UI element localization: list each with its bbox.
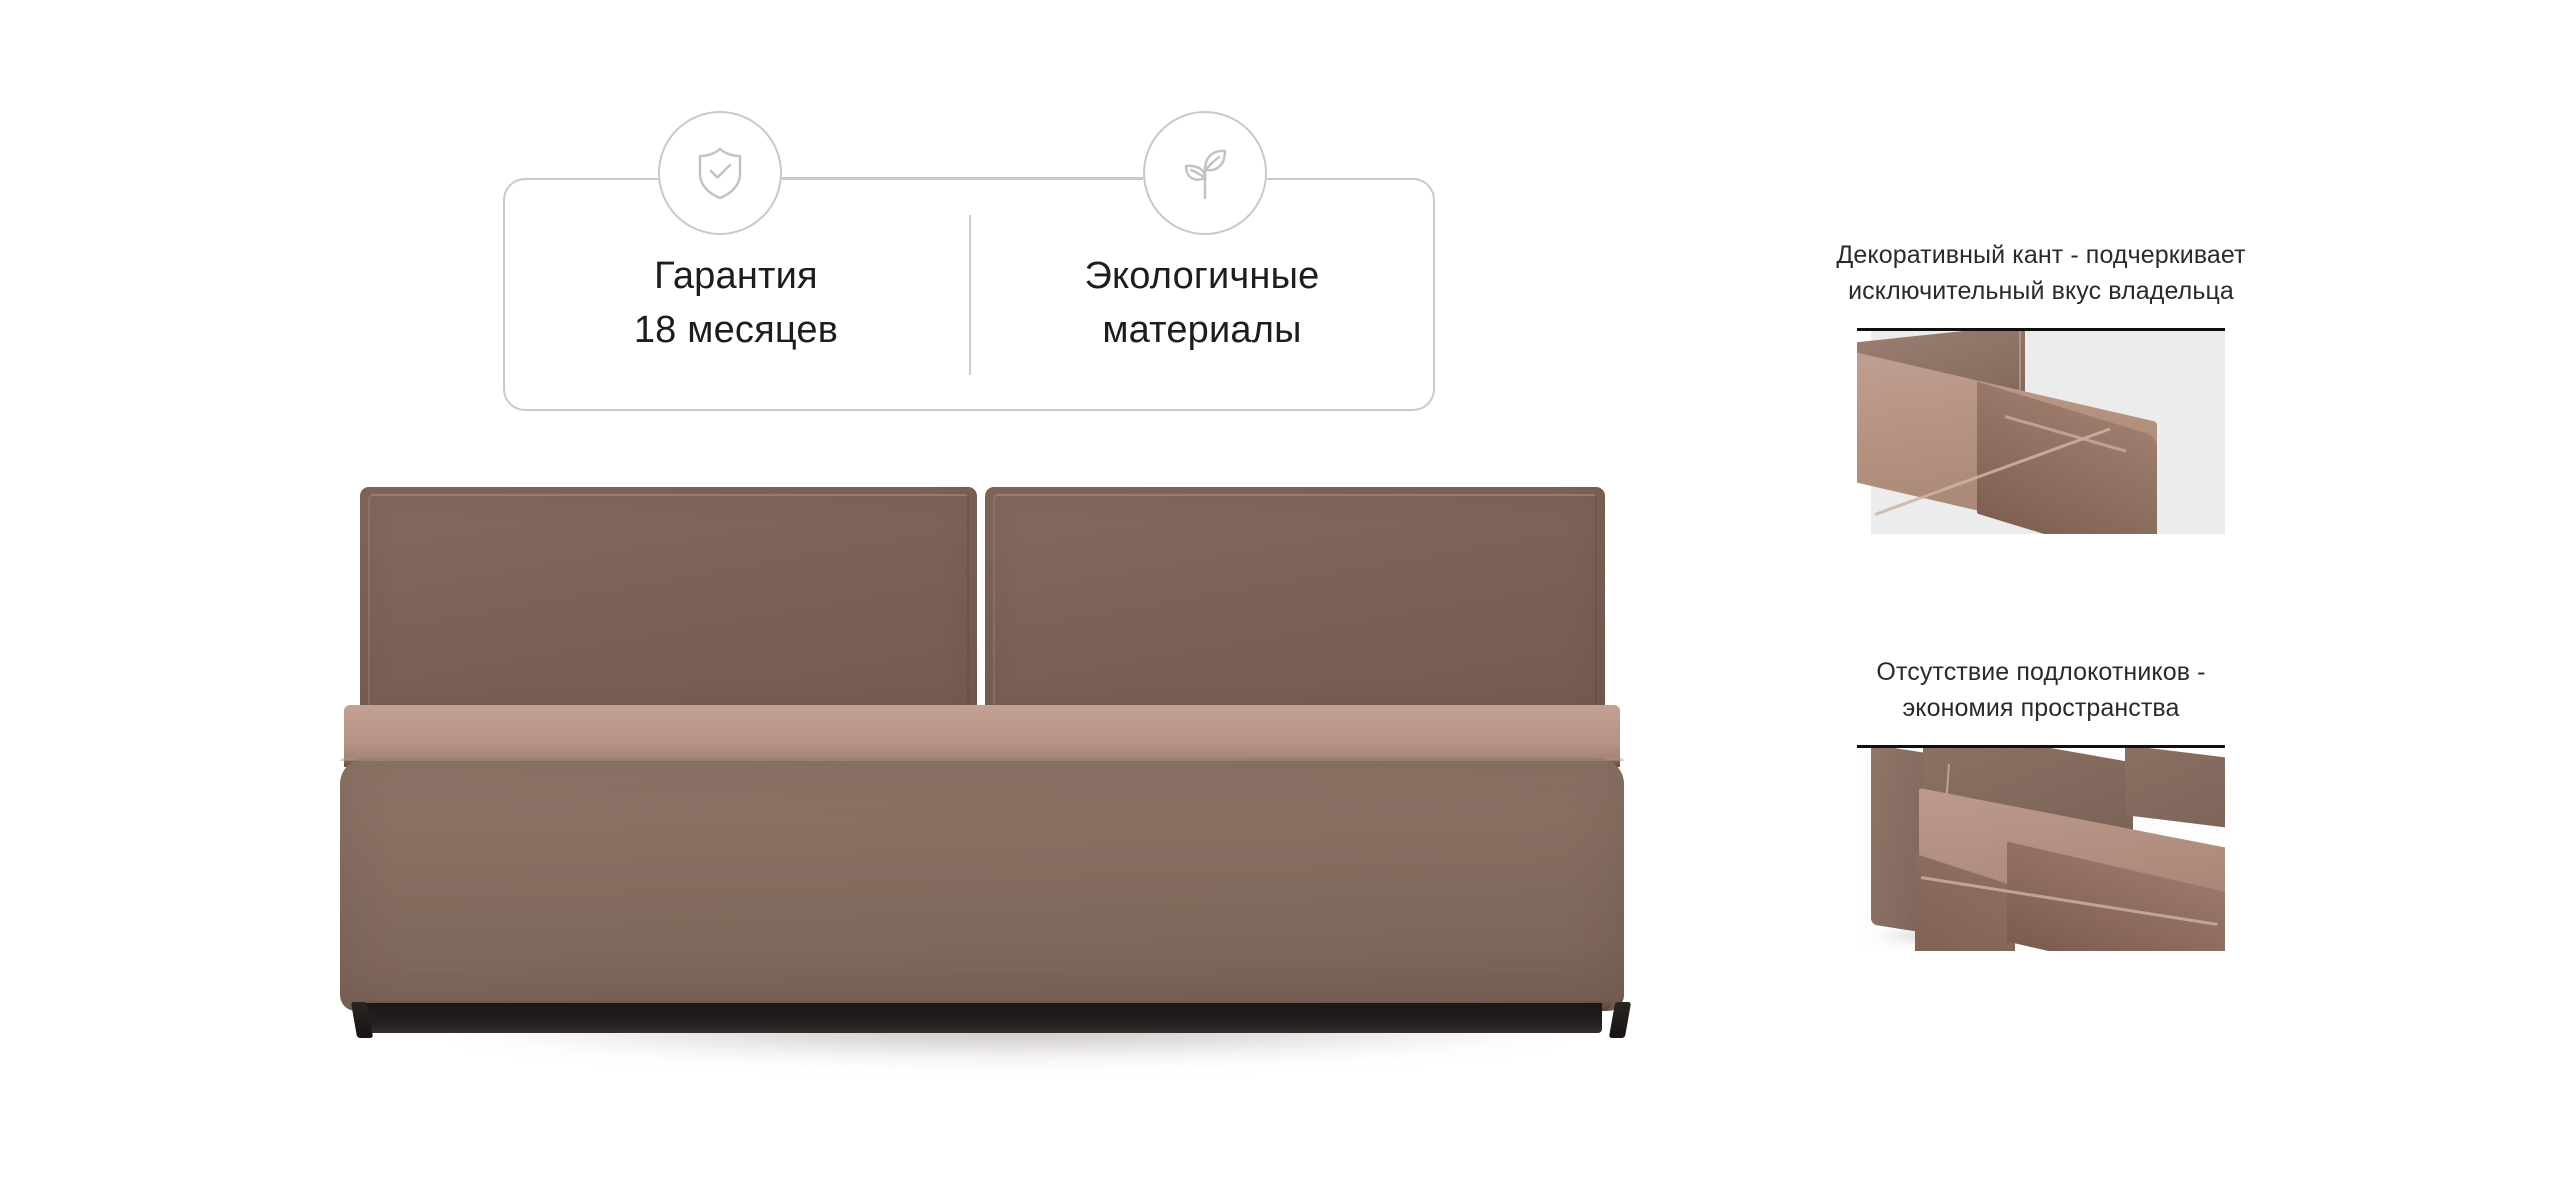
badge-warranty: Гарантия 18 месяцев [503, 178, 969, 411]
badge-eco-materials: Экологичные материалы [969, 178, 1435, 411]
thumb-backrest-right [2125, 745, 2225, 829]
feature-armrest-caption-line2: экономия пространства [1806, 691, 2276, 727]
sofa-base-recess [362, 1003, 1602, 1033]
infographic-page: Гарантия 18 месяцев Экологичные материал… [0, 0, 2560, 1188]
feature-card-no-armrest: Отсутствие подлокотников - экономия прос… [1806, 655, 2276, 951]
sofa-back-cushion-left [360, 487, 977, 719]
badge-warranty-line2: 18 месяцев [634, 304, 838, 358]
feature-piping-photo [1857, 328, 2225, 534]
feature-card-piping: Декоративный кант - подчеркивает исключи… [1806, 238, 2276, 534]
feature-armrest-photo [1857, 745, 2225, 951]
badge-warranty-line1: Гарантия [654, 250, 818, 304]
product-sofa-image [300, 450, 1720, 1090]
feature-badges-panel: Гарантия 18 месяцев Экологичные материал… [503, 178, 1435, 411]
feature-piping-caption-line1: Декоративный кант - подчеркивает [1806, 238, 2276, 274]
badge-eco-line2: материалы [1102, 304, 1301, 358]
feature-piping-caption-line2: исключительный вкус владельца [1806, 274, 2276, 310]
sofa-base-block [340, 758, 1624, 1011]
sofa-back-cushion-right [985, 487, 1605, 719]
badge-eco-line1: Экологичные [1085, 250, 1320, 304]
feature-armrest-caption-line1: Отсутствие подлокотников - [1806, 655, 2276, 691]
